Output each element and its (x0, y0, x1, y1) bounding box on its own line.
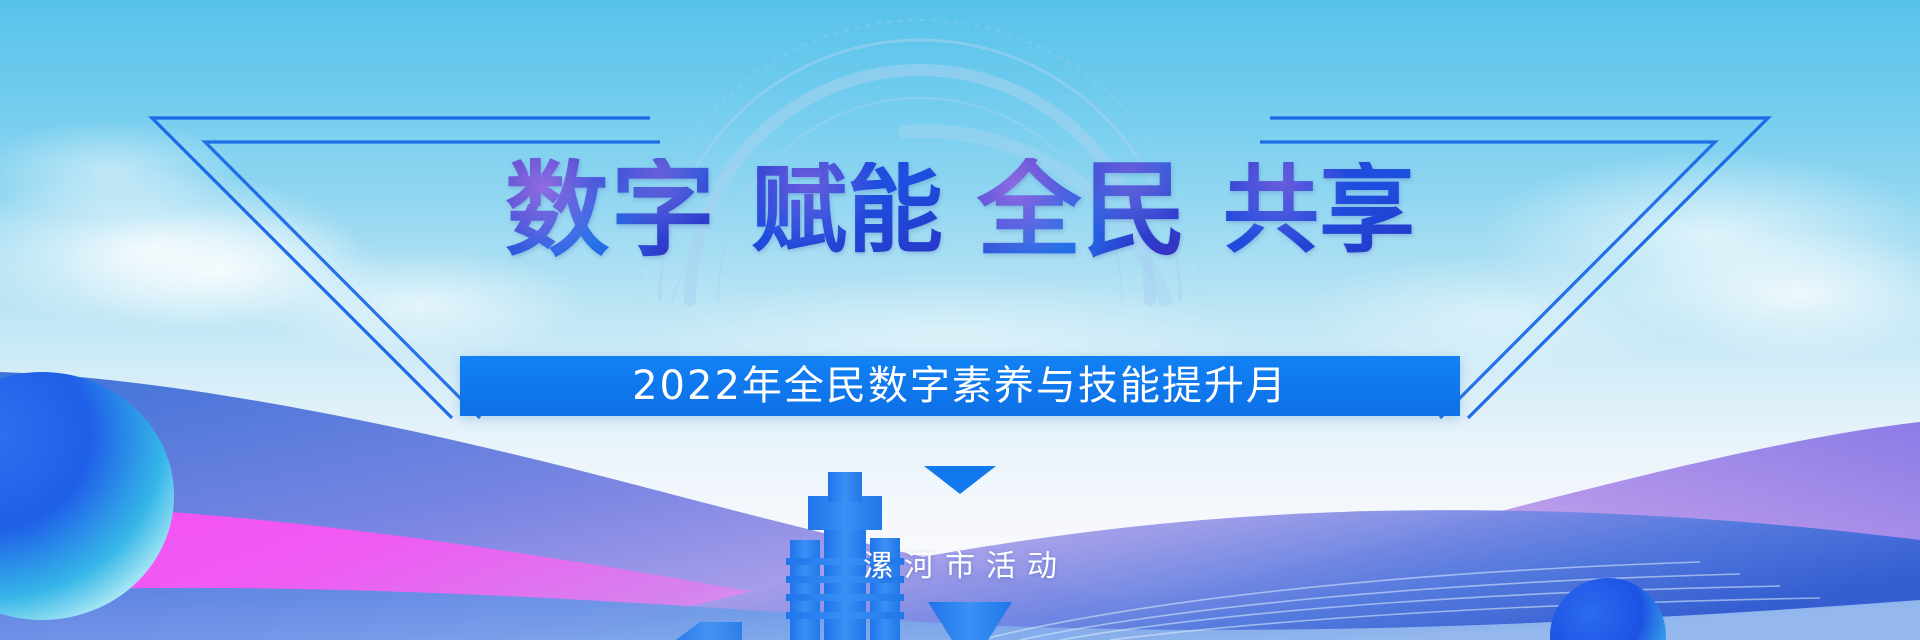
building-left (790, 540, 820, 640)
light-streaks (980, 562, 1820, 640)
corner-brackets (0, 0, 1920, 640)
building-cap-wide (808, 496, 882, 530)
gradient-sphere-left (0, 372, 174, 620)
wave-foreground (0, 588, 1920, 640)
title-word-4: 共享 (1223, 162, 1415, 258)
title-word-2: 赋能 (751, 162, 943, 258)
building-small-left (676, 622, 742, 640)
building-band (786, 594, 904, 601)
gradient-sphere-right (1550, 578, 1666, 640)
wave-center (560, 510, 1920, 640)
chevron-down-icon (924, 466, 996, 494)
city-activity-label: 漯河市活动 (852, 552, 1068, 582)
building-trapezoid (928, 602, 1012, 640)
main-title: 数字 赋能 全民 共享 (0, 140, 1920, 280)
title-word-3: 全民 (977, 158, 1189, 262)
title-word-1: 数字 (505, 158, 717, 262)
wave-purple-right (880, 422, 1920, 640)
building-band (786, 612, 904, 619)
subtitle-text: 2022年全民数字素养与技能提升月 (632, 366, 1288, 406)
building-cap-narrow (828, 472, 862, 502)
digital-literacy-banner: 数字 赋能 全民 共享 2022年全民数字素养与技能提升月 (0, 0, 1920, 640)
decorative-arcs (0, 0, 1920, 640)
subtitle-bar: 2022年全民数字素养与技能提升月 (460, 356, 1460, 416)
